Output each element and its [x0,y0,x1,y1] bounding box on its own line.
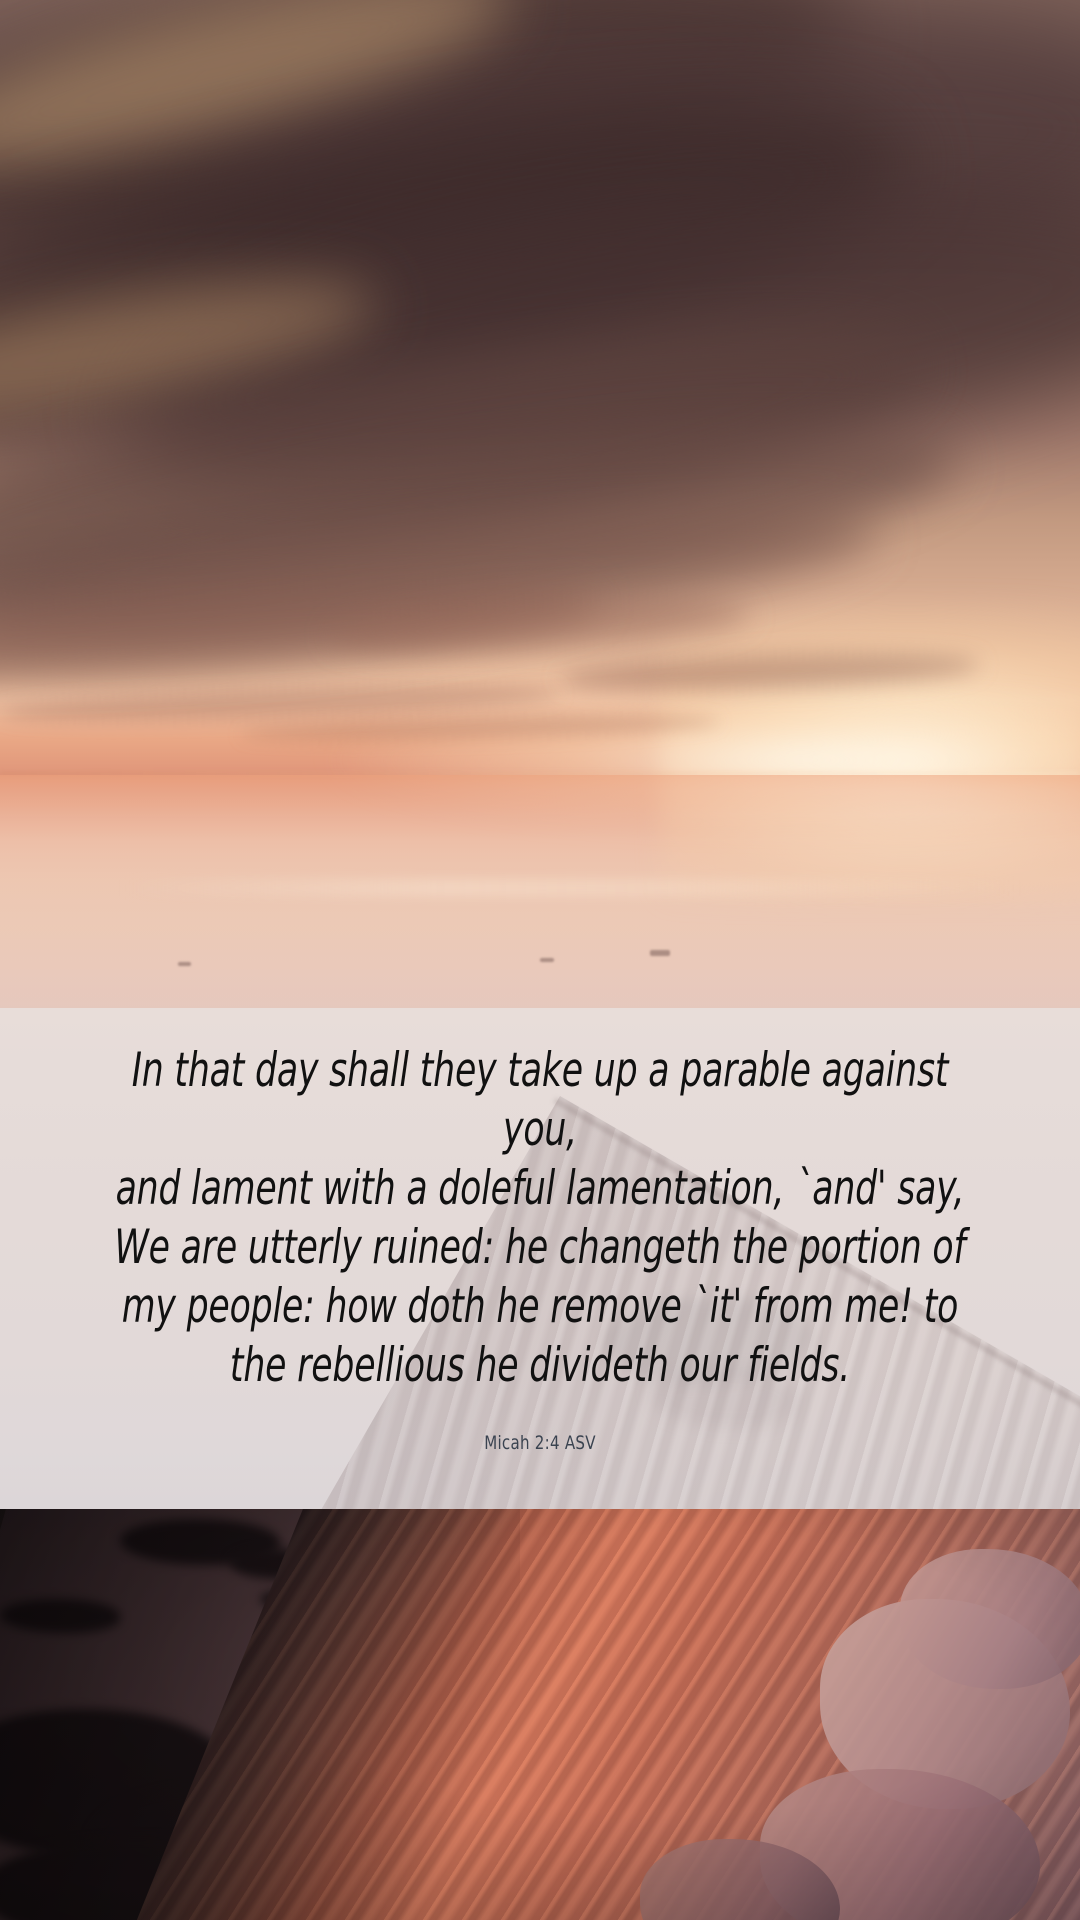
dark-rock-cluster [0,1599,120,1633]
dark-rock-cluster [230,1549,320,1579]
dark-rock-cluster [120,1519,280,1565]
ocean-surface [0,775,1080,1008]
cloud-shape [0,272,937,668]
ocean-sheen [120,880,1020,896]
dark-rock-cluster [0,1709,240,1859]
cloud-shape [0,474,883,706]
photo-vignette [0,1509,1080,1920]
ship-silhouette [178,962,191,966]
boulder [760,1769,1040,1920]
dark-rock-cluster [0,1839,310,1920]
boulder [640,1839,840,1920]
horizon-line [0,772,1080,775]
verse-content: In that day shall they take up a parable… [0,1008,1080,1509]
cloud-wisp [240,712,720,745]
cloud-shape [0,30,933,520]
cloud-highlight [0,252,384,448]
cloud-shape [106,125,1080,555]
dark-rock-cluster [320,1509,450,1539]
cloud-shape [0,385,965,675]
bible-verse-wallpaper: In that day shall they take up a parable… [0,0,1080,1920]
cloud-shape [329,589,751,661]
sun-glow-lower [330,690,1080,830]
sun-glow [660,600,1080,900]
verse-text: In that day shall they take up a parable… [97,1041,983,1395]
ship-silhouette [540,958,554,962]
cliff-strata-texture [101,1509,1080,1920]
dark-rock-cluster [90,1789,330,1909]
verse-reference: Micah 2:4 ASV [65,1432,1015,1454]
boulder [900,1549,1080,1689]
cloud-highlight [0,0,525,203]
dark-rock-cluster [260,1589,330,1611]
cliff-shadow [0,1509,520,1920]
cloud-shape [0,0,874,307]
verse-overlay-band: In that day shall they take up a parable… [0,1008,1080,1509]
wet-sand-area [0,1509,835,1920]
rocky-cliff-photo [0,1509,1080,1920]
cloud-shape [0,563,602,697]
cloud-shape [189,0,1080,352]
boulder [820,1599,1070,1809]
dark-rock-cluster [440,1534,520,1560]
cliff-face [101,1509,1080,1920]
cloud-wisp [0,680,560,726]
ship-silhouette [650,950,670,956]
sunset-sky-photo [0,0,1080,1008]
cloud-wisp [560,648,981,697]
